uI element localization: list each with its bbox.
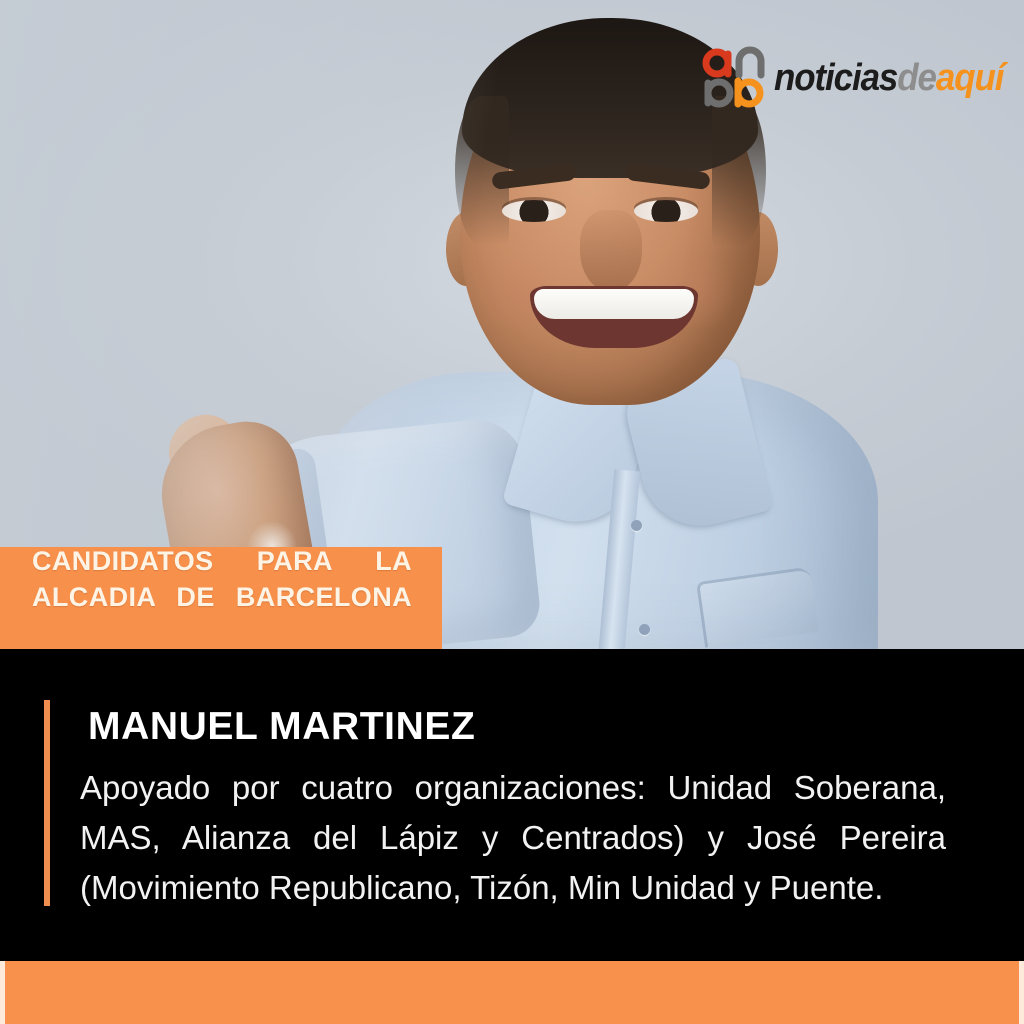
- article-block: MANUEL MARTINEZ Apoyado por cuatro organ…: [0, 649, 1024, 961]
- wordmark-aqui: aquí: [936, 57, 1003, 99]
- wordmark-de: de: [897, 57, 936, 99]
- an-ad-logo-mark: [702, 42, 766, 114]
- candidate-name: MANUEL MARTINEZ: [88, 705, 475, 749]
- wordmark-noticias: noticias: [774, 57, 897, 99]
- footer-bar: [0, 961, 1024, 1024]
- article-body: Apoyado por cuatro organizaciones: Unida…: [80, 763, 946, 913]
- brand-logo[interactable]: noticiasdeaquí: [702, 42, 1023, 114]
- kicker-banner: CANDIDATOS PARA LA ALCADIA DE BARCELONA: [0, 547, 442, 649]
- accent-bar: [44, 700, 50, 906]
- kicker-text: CANDIDATOS PARA LA ALCADIA DE BARCELONA: [32, 544, 412, 652]
- brand-wordmark: noticiasdeaquí: [774, 59, 1003, 97]
- poster-canvas: noticiasdeaquí CANDIDATOS PARA LA ALCADI…: [0, 0, 1024, 1024]
